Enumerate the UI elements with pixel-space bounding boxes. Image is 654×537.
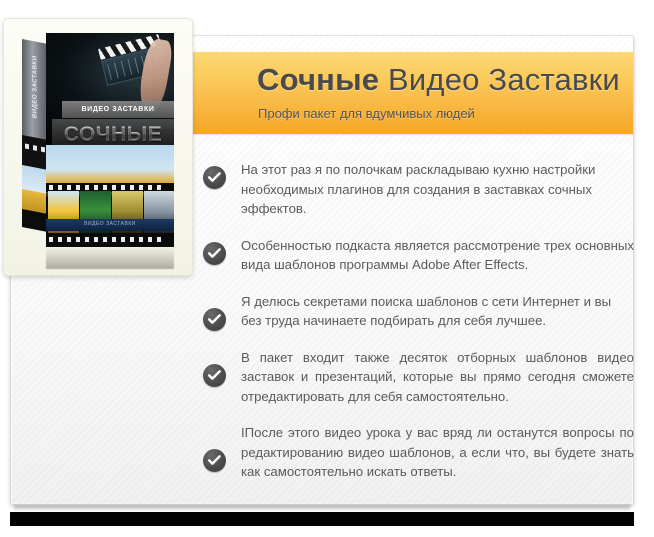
box-footer-band: ВИДЕО ЗАСТАВКИ <box>46 219 174 231</box>
product-image-card: ВИДЕО ЗАСТАВКИ ВИДЕО ЗАСТАВКИ СОЧНЫЕ <box>3 18 193 276</box>
film-perforations-bottom <box>49 237 53 242</box>
film-perforations-top <box>49 185 53 190</box>
list-item: IПосле этого видео урока у вас вряд ли о… <box>200 423 634 482</box>
page-subtitle: Профи пакет для вдумчивых людей <box>258 106 475 122</box>
page-root: Сочные Видео Заставки Профи пакет для вд… <box>0 0 654 537</box>
list-item: Я делюсь секретами поиска шаблонов с сет… <box>200 292 634 331</box>
list-item-text: На этот раз я по полочкам раскладываю ку… <box>241 160 634 219</box>
list-item: В пакет входит также десяток отборных ша… <box>200 348 634 407</box>
list-item-text: Особенностью подкаста является рассмотре… <box>241 236 634 275</box>
header-banner: Сочные Видео Заставки Профи пакет для вд… <box>192 52 634 134</box>
bottom-strip <box>10 512 634 526</box>
check-circle-icon <box>203 166 226 189</box>
list-item-text: IПосле этого видео урока у вас вряд ли о… <box>241 423 634 482</box>
check-circle-icon <box>203 364 226 387</box>
box-banner-small-label: ВИДЕО ЗАСТАВКИ <box>82 106 155 113</box>
list-item: На этот раз я по полочкам раскладываю ку… <box>200 160 634 219</box>
filmstrip-bar-bottom <box>46 235 174 244</box>
check-circle-icon <box>203 449 226 472</box>
panel-shadow <box>14 505 630 512</box>
product-box-3d: ВИДЕО ЗАСТАВКИ ВИДЕО ЗАСТАВКИ СОЧНЫЕ <box>22 33 174 251</box>
list-item-text: В пакет входит также десяток отборных ша… <box>241 348 634 407</box>
product-box-spine: ВИДЕО ЗАСТАВКИ <box>22 39 48 232</box>
spine-filmstrip-lower <box>22 209 48 232</box>
list-item-text: Я делюсь секретами поиска шаблонов с сет… <box>241 292 634 331</box>
filmstrip-photos <box>46 145 174 247</box>
page-title-light: Видео Заставки <box>388 62 620 97</box>
feature-list: На этот раз я по полочкам раскладываю ку… <box>200 160 634 499</box>
product-box-front: ВИДЕО ЗАСТАВКИ СОЧНЫЕ <box>46 33 174 247</box>
check-circle-icon <box>203 308 226 331</box>
list-item: Особенностью подкаста является рассмотре… <box>200 236 634 275</box>
page-title-bold: Сочные <box>257 62 379 97</box>
box-reflection <box>46 247 174 269</box>
box-footer-label: ВИДЕО ЗАСТАВКИ <box>46 221 174 227</box>
check-circle-icon <box>203 242 226 265</box>
spine-label: ВИДЕО ЗАСТАВКИ <box>32 39 39 181</box>
page-title: Сочные Видео Заставки <box>257 62 620 98</box>
box-banner-small: ВИДЕО ЗАСТАВКИ <box>62 101 174 118</box>
